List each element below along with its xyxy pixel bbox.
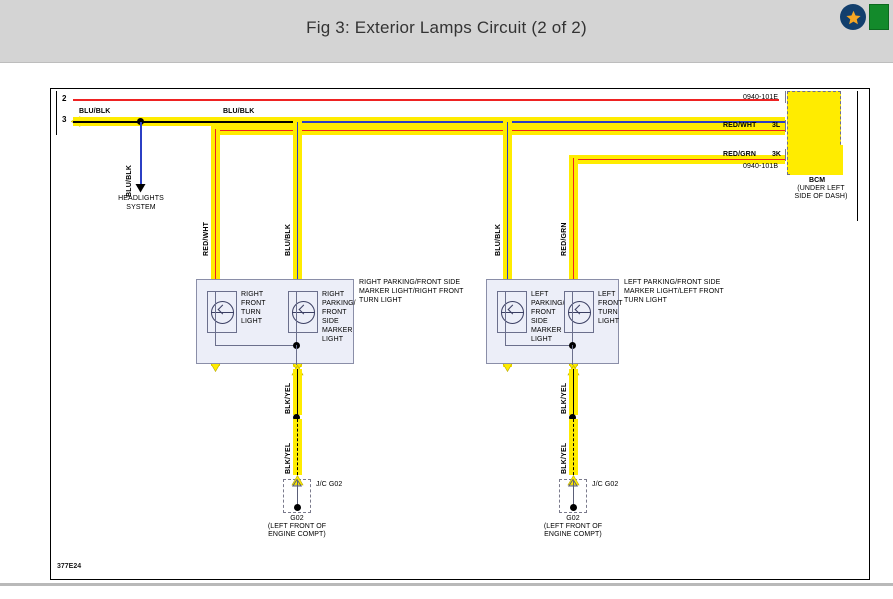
edge-ref-3: 3 [62,115,66,124]
green-chip-icon[interactable] [869,4,889,30]
left-jc-label: J/C G02 [592,481,618,490]
left-inner-wire-c [572,291,573,346]
right-inner-wire-b [215,345,297,346]
footer-area [0,586,893,599]
left-assembly-caption: LEFT PARKING/FRONT SIDE MARKER LIGHT/LEF… [624,279,724,306]
header-icon-group [840,3,889,31]
left-inner-wire-d [572,345,573,365]
page-title: Fig 3: Exterior Lamps Circuit (2 of 2) [0,18,893,38]
right-jc-label: J/C G02 [316,481,342,490]
right-inner-wire-a [215,291,216,346]
right-gnd-up-arrow-icon [292,479,302,488]
right-edge-rule [857,91,858,221]
wire-label-blu-blk-left-drop: BLU/BLK [495,224,502,256]
headlights-arrow-icon [135,181,146,193]
bcm-pin-red-wht-wire: RED/WHT [723,122,756,131]
wiring-diagram: 2 3 BLU/BLK BLU/BLK [50,88,870,580]
wire-blu-blk-headlights-drop [140,122,142,184]
header-bar: Fig 3: Exterior Lamps Circuit (2 of 2) [0,0,893,62]
wire-red-top-bus [73,99,779,101]
left-edge-rule [56,91,57,135]
wire-label-headlights-drop: BLU/BLK [126,165,135,197]
right-assembly-caption: RIGHT PARKING/FRONT SIDE MARKER LIGHT/RI… [359,279,464,306]
wire-label-red-wht-drop: RED/WHT [203,222,210,256]
destination-headlights-system: HEADLIGHTS SYSTEM [101,195,181,213]
wire-right-gnd-lower [297,419,298,475]
wire-blu-blk-bus-left [73,121,297,123]
figure-number: 377E24 [57,563,81,570]
left-parking-side-marker-lamp-icon [497,291,527,333]
left-gnd-up-arrow-icon [568,479,578,488]
bcm-pin-red-grn-number: 3K [772,151,781,158]
wire-label-right-gnd-lower: BLK/YEL [285,443,292,474]
left-inner-wire-b [505,345,573,346]
left-ground-terminal-dot [570,504,577,511]
header-divider [0,62,893,63]
right-ground-location-2: ENGINE COMPT) [247,531,347,540]
right-ground-terminal-dot [294,504,301,511]
highlight-right-gnd-lower [293,419,302,475]
wire-label-red-grn-drop: RED/GRN [561,222,568,256]
right-front-turn-light-label: RIGHT FRONT TURN LIGHT [241,291,266,327]
right-parking-side-marker-light-label: RIGHT PARKING/ FRONT SIDE MARKER LIGHT [322,291,356,345]
right-inner-wire-d [296,345,297,365]
right-front-turn-lamp-icon [207,291,237,333]
left-inner-wire-a [505,291,506,346]
wire-left-gnd-lower [573,419,574,475]
wire-label-right-gnd-upper: BLK/YEL [285,383,292,414]
wire-right-gnd-upper [297,369,299,415]
bcm-location-2: SIDE OF DASH) [771,193,871,202]
wire-label-blu-blk-left: BLU/BLK [79,108,110,117]
left-ground-location-2: ENGINE COMPT) [523,531,623,540]
wire-label-left-gnd-upper: BLK/YEL [561,383,568,414]
bcm-module-notch [791,145,843,175]
left-parking-side-marker-light-label: LEFT PARKING/ FRONT SIDE MARKER LIGHT [531,291,565,345]
screen: Fig 3: Exterior Lamps Circuit (2 of 2) 2… [0,0,893,599]
wire-left-gnd-upper [573,369,575,415]
wire-blu-blk-bus-blue [297,121,785,123]
star-icon[interactable] [840,4,866,30]
bcm-pin-red-wht-number: 3L [772,122,780,129]
wire-label-blu-blk-right-drop: BLU/BLK [285,224,292,256]
bcm-connector-bottom-label: 0940-101B [743,163,778,172]
bcm-connector-top-label: 0940-101E [743,94,778,103]
left-front-turn-lamp-icon [564,291,594,333]
left-front-turn-light-label: LEFT FRONT TURN LIGHT [598,291,623,327]
wire-label-left-gnd-lower: BLK/YEL [561,443,568,474]
highlight-left-gnd-lower [569,419,578,475]
bcm-pin-red-grn-wire: RED/GRN [723,151,756,160]
edge-ref-2: 2 [62,94,66,103]
right-parking-side-marker-lamp-icon [288,291,318,333]
right-inner-wire-c [296,291,297,346]
wire-label-blu-blk-mid: BLU/BLK [223,108,254,117]
